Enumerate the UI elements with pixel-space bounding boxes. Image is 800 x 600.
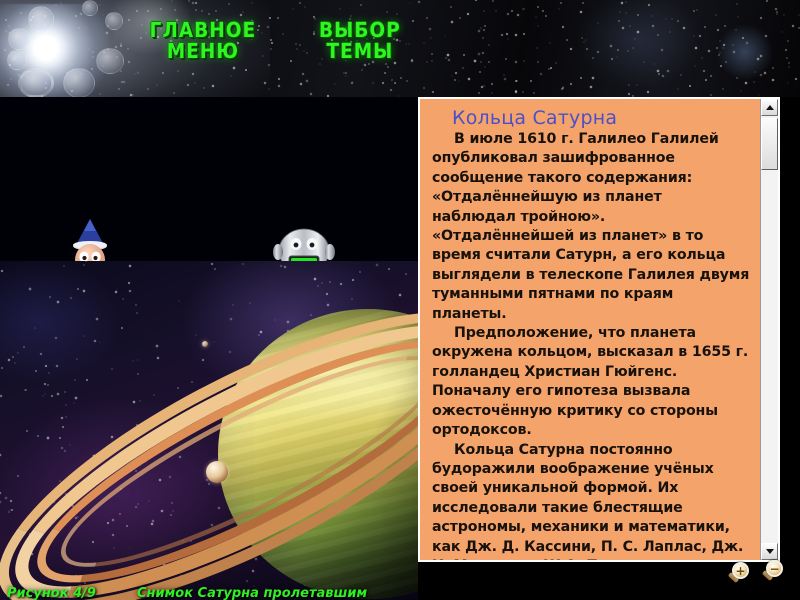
zoom-in-icon: + xyxy=(732,562,749,579)
scroll-down-arrow-icon xyxy=(766,549,774,554)
zoom-out-sign: − xyxy=(769,564,779,574)
scroll-down-button[interactable] xyxy=(761,543,778,560)
zoom-out-icon: − xyxy=(766,560,783,577)
article-paragraph: Предположение, что планета окружена коль… xyxy=(432,324,750,440)
flare-ghost xyxy=(82,0,98,16)
scroll-up-button[interactable] xyxy=(761,99,778,116)
flare-ghost xyxy=(8,28,30,50)
flare-ghost xyxy=(105,12,123,30)
article-paragraph: В июле 1610 г. Галилео Галилей опубликов… xyxy=(432,130,750,324)
flare-ghost xyxy=(18,68,54,97)
zoom-in-sign: + xyxy=(735,566,745,576)
flare-ghost xyxy=(96,48,124,74)
vertical-scrollbar[interactable] xyxy=(760,99,778,560)
figure-number-caption: Рисунок 4/9 xyxy=(7,586,96,600)
header-banner: ГЛАВНОЕ МЕНЮ ВЫБОР ТЕМЫ xyxy=(0,0,800,97)
flare-ghost xyxy=(7,50,27,70)
application-window: ГЛАВНОЕ МЕНЮ ВЫБОР ТЕМЫ xyxy=(0,0,800,600)
article-panel: Кольца Сатурна В июле 1610 г. Галилео Га… xyxy=(418,97,780,562)
article-title: Кольца Сатурна xyxy=(452,107,750,129)
illustration-stage: Рисунок 4/9 Снимок Сатурна пролетавшим с… xyxy=(0,97,418,600)
scroll-up-arrow-icon xyxy=(766,105,774,110)
theme-select-link[interactable]: ВЫБОР ТЕМЫ xyxy=(301,20,419,62)
saturn-moon xyxy=(206,461,228,483)
saturn-photo xyxy=(0,261,418,600)
zoom-out-button[interactable]: − xyxy=(760,560,790,590)
saturn-moon-small xyxy=(202,341,208,347)
zoom-in-button[interactable]: + xyxy=(726,562,756,592)
flare-ghost xyxy=(28,6,54,32)
scrollbar-track[interactable] xyxy=(761,116,778,543)
scrollbar-thumb[interactable] xyxy=(761,118,778,170)
zoom-tools: + − xyxy=(726,560,792,594)
flare-ghost xyxy=(63,68,95,97)
article-paragraph: Кольца Сатурна постоянно будоражили вооб… xyxy=(432,441,750,561)
main-menu-link[interactable]: ГЛАВНОЕ МЕНЮ xyxy=(134,20,272,62)
article-content: Кольца Сатурна В июле 1610 г. Галилео Га… xyxy=(420,99,760,560)
figure-description-caption: Снимок Сатурна пролетавшим спутником xyxy=(137,586,387,600)
